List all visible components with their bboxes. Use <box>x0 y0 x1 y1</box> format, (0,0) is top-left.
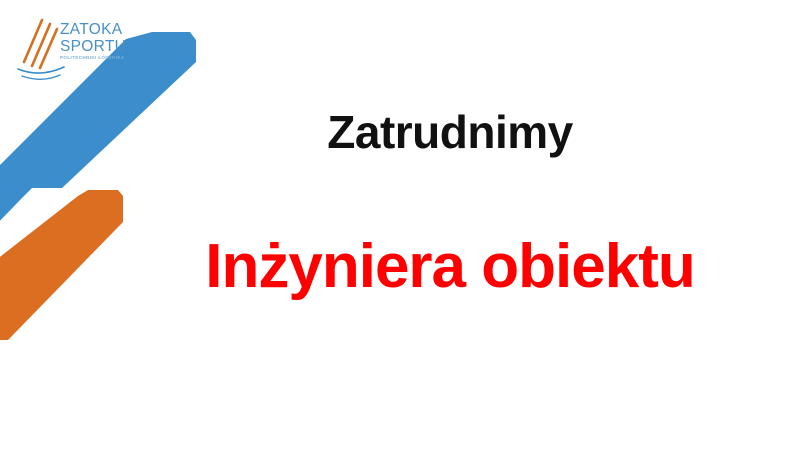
logo-subtitle: POLITECHNIKI ŁÓDZKIEJ <box>60 56 136 61</box>
logo-line-zatoka: ZATOKA <box>60 22 136 38</box>
zatoka-sportu-logo: ZATOKA SPORTU POLITECHNIKI ŁÓDZKIEJ <box>12 16 132 84</box>
logo-line-sportu: SPORTU <box>60 39 136 55</box>
headline-job-title: Inżyniera obiektu <box>120 234 780 299</box>
poster-canvas: ZATOKA SPORTU POLITECHNIKI ŁÓDZKIEJ Zatr… <box>0 0 800 450</box>
logo-wordmark: ZATOKA SPORTU POLITECHNIKI ŁÓDZKIEJ <box>60 22 136 61</box>
headline-top-line: Zatrudnimy <box>190 108 710 156</box>
orange-diagonal-band <box>0 190 123 340</box>
